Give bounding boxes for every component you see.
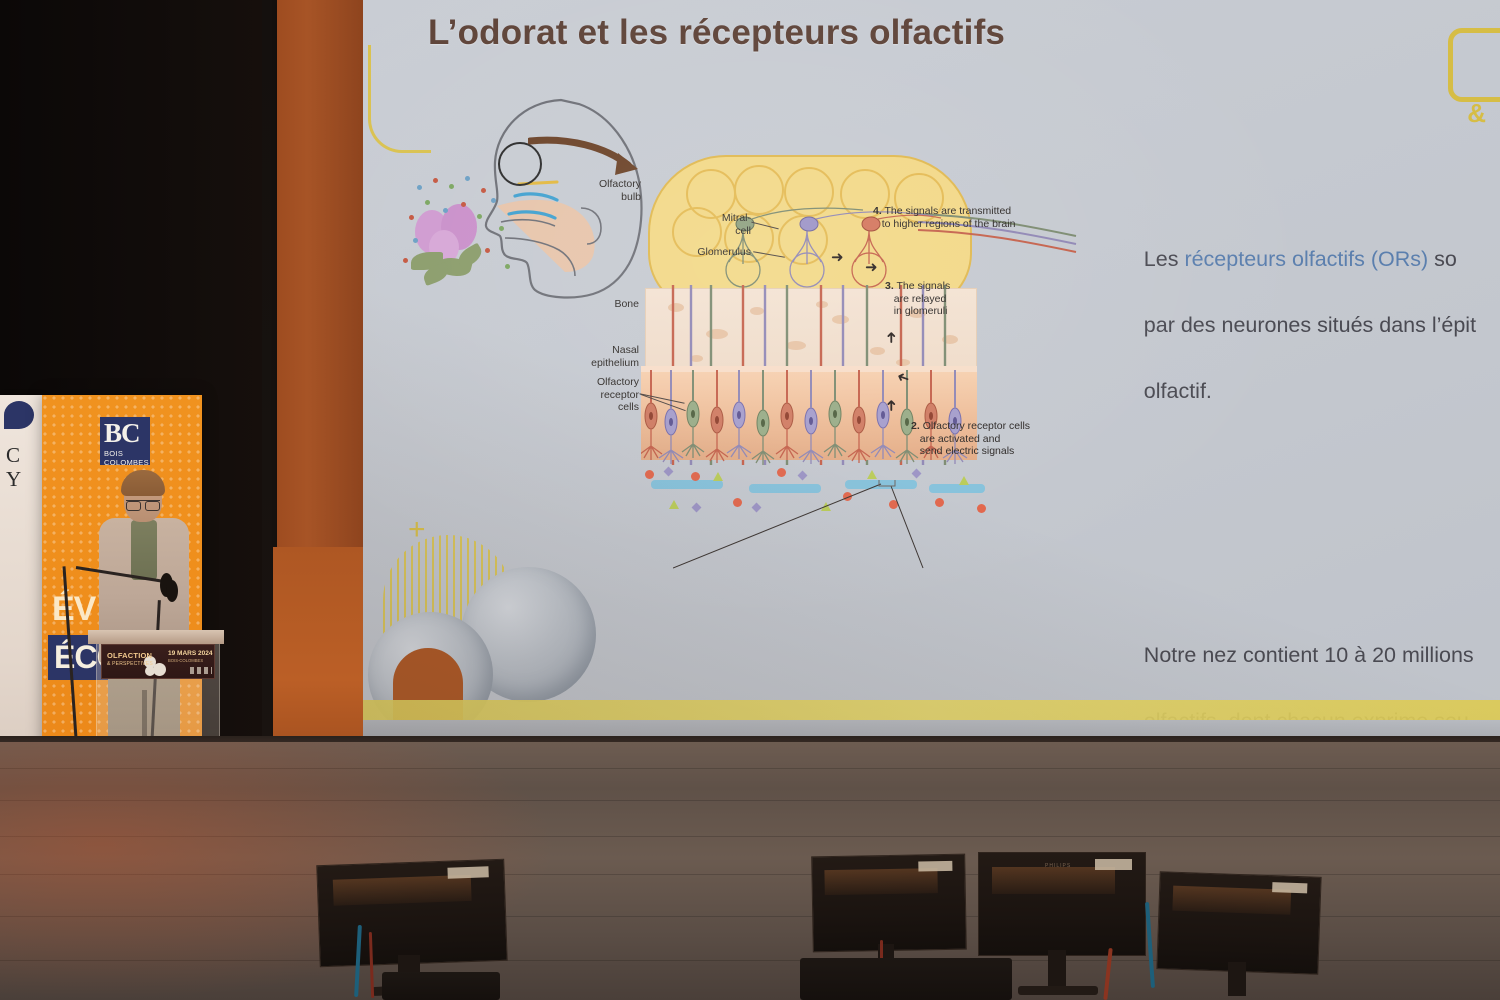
text-run: olfactif. xyxy=(1144,379,1212,403)
monitor-brand-text: PHILIPS xyxy=(1045,863,1071,869)
city-banner-line-1: ÉV xyxy=(52,590,95,629)
lectern-sign: OLFACTION & PERSPECTIVES 19 MARS 2024 BO… xyxy=(101,644,215,679)
paragraph-spacer xyxy=(1096,507,1500,540)
step-4-text: The signals are transmitted to higher re… xyxy=(873,205,1015,230)
step-3: 3. The signals are relayed in glomeruli xyxy=(885,280,995,318)
microphone-head-icon xyxy=(166,580,178,602)
step-4-number: 4. xyxy=(873,205,882,217)
label-nasal-epithelium: Nasalepithelium xyxy=(551,344,639,369)
lectern-sign-date: 19 MARS 2024 xyxy=(168,650,212,657)
signal-arrow-icon: ➜ xyxy=(884,331,899,344)
step-4: 4. The signals are transmitted to higher… xyxy=(873,205,1053,230)
odor-molecule xyxy=(409,215,414,220)
lectern-sign-sponsor-logos xyxy=(190,667,212,674)
odor-molecule xyxy=(465,176,470,181)
odor-molecule xyxy=(413,238,418,243)
stage-photo: L’odorat et les récepteurs olfactifs + +… xyxy=(0,0,1500,1000)
city-logo: BC BOIS COLOMBES xyxy=(100,417,150,465)
stage-monitor: PHILIPS xyxy=(978,852,1146,956)
odorant-molecule xyxy=(777,468,786,477)
odor-molecule xyxy=(461,202,466,207)
city-logo-initials: BC xyxy=(104,418,140,449)
odorant-molecule xyxy=(959,476,969,485)
monitor-stand xyxy=(1228,962,1246,996)
odor-molecule xyxy=(449,184,454,189)
step-2-text: Olfactory receptor cells are activated a… xyxy=(911,420,1030,457)
olfaction-diagram: Olfactorybulb Mitral-cell Glomerulus Bon… xyxy=(373,80,1073,550)
mucus-flow-arrow-icon xyxy=(929,484,985,493)
odor-molecule xyxy=(477,214,482,219)
step-3-text: The signals are relayed in glomeruli xyxy=(885,280,950,317)
lectern-sign-subtitle: & PERSPECTIVES xyxy=(107,661,153,667)
odor-molecule xyxy=(417,185,422,190)
lectern-sign-title: OLFACTION xyxy=(107,651,152,660)
signal-arrow-icon: ➜ xyxy=(884,399,899,412)
slide-paragraph-1: Les récepteurs olfactifs (ORs) so par de… xyxy=(1096,210,1500,441)
side-banner-letter-y: Y xyxy=(6,467,21,492)
odor-molecule xyxy=(403,258,408,263)
label-mitral-cell: Mitral-cell xyxy=(689,212,751,237)
odor-molecule xyxy=(425,200,430,205)
odorant-molecule xyxy=(935,498,944,507)
step-2: 2. Olfactory receptor cells are activate… xyxy=(911,420,1051,458)
step-3-number: 3. xyxy=(885,280,894,292)
odor-molecule xyxy=(505,264,510,269)
lectern-top xyxy=(88,630,224,644)
odorant-molecule xyxy=(645,470,654,479)
event-logo-ampersand: & xyxy=(1467,98,1486,129)
speaker-shirt xyxy=(131,520,157,580)
label-glomerulus: Glomerulus xyxy=(651,246,751,259)
odor-molecule xyxy=(443,208,448,213)
odor-molecule xyxy=(499,226,504,231)
odorant-molecule xyxy=(977,504,986,513)
stage-monitor xyxy=(1156,871,1321,975)
step-2-number: 2. xyxy=(911,420,920,432)
odor-molecule xyxy=(491,198,496,203)
stage-monitor xyxy=(811,854,967,953)
slide-title: L’odorat et les récepteurs olfactifs xyxy=(428,13,1188,53)
side-banner-mark-icon xyxy=(4,401,34,429)
text-run: so xyxy=(1428,247,1457,271)
odor-molecule xyxy=(433,178,438,183)
odorant-molecule xyxy=(867,470,877,479)
label-bone: Bone xyxy=(569,298,639,311)
text-run: Notre nez contient 10 à 20 millions xyxy=(1144,643,1474,667)
text-run: Les xyxy=(1144,247,1185,271)
odor-molecule xyxy=(481,188,486,193)
slide-body-text: Les récepteurs olfactifs (ORs) so par de… xyxy=(1096,144,1500,742)
odor-molecule xyxy=(485,248,490,253)
flower-illustration xyxy=(411,200,503,295)
side-banner-letter-c: C xyxy=(6,443,20,468)
stage-monitor xyxy=(316,859,507,967)
lectern-sign-date-sub: BOIS-COLOMBES xyxy=(168,658,203,663)
label-olfactory-receptor-cells: Olfactoryreceptorcells xyxy=(551,376,639,414)
glasses-icon xyxy=(126,500,160,510)
monitor-foot xyxy=(1018,986,1098,995)
projection-screen: L’odorat et les récepteurs olfactifs + +… xyxy=(363,0,1500,742)
callout-leaders xyxy=(673,480,933,570)
text-run: par des neurones situés dans l’épit xyxy=(1144,313,1476,337)
equipment-riser xyxy=(800,958,1012,1000)
event-logo-icon xyxy=(1448,28,1500,102)
city-logo-subtitle: BOIS COLOMBES xyxy=(104,449,150,467)
equipment-riser xyxy=(382,972,500,1000)
label-olfactory-bulb: Olfactorybulb xyxy=(561,178,641,203)
signal-arrow-icon: ➜ xyxy=(865,260,878,275)
signal-arrow-icon: ➜ xyxy=(831,250,844,265)
highlight-ors: récepteurs olfactifs (ORs) xyxy=(1184,247,1428,271)
slide-footer-bar xyxy=(363,700,1500,720)
